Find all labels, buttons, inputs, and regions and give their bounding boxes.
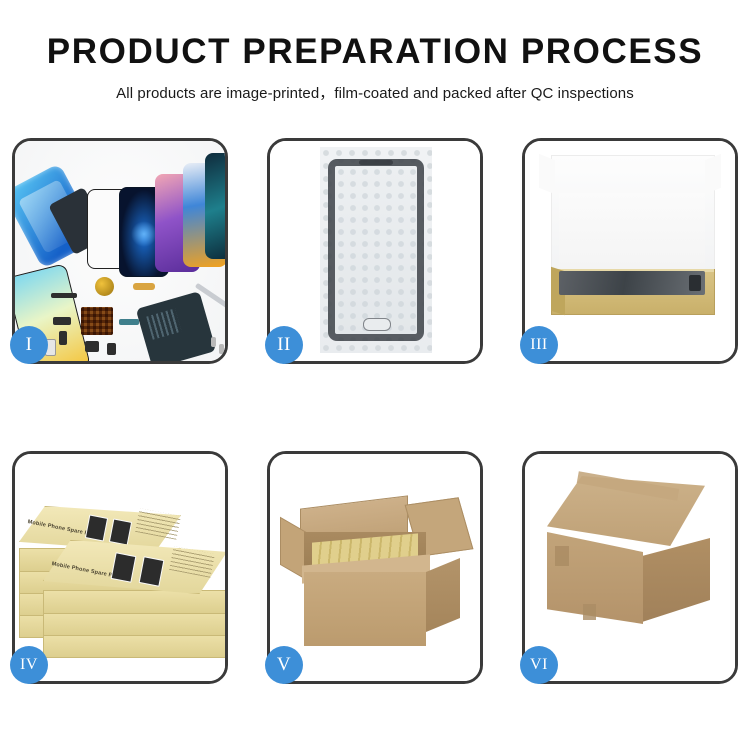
screw-icon [219,344,224,354]
chip-grid-icon [81,307,113,335]
speaker-part-icon [51,293,77,298]
small-part-icon [85,341,99,352]
process-steps-grid: I II III [12,138,738,684]
small-part-icon [59,331,67,345]
step-panel-5: V [267,451,483,684]
tape-strip-icon [555,546,569,566]
step-1-image [15,141,225,361]
small-part-icon [119,319,139,325]
kraft-box-stack-item [43,612,225,636]
carton-front-panel-icon [304,572,426,646]
step-badge-5: V [265,646,303,684]
step-panel-3: III [522,138,738,364]
step-badge-1: I [10,326,48,364]
step-panel-6: VI [522,451,738,684]
step-badge-4: IV [10,646,48,684]
step-badge-3: III [520,326,558,364]
wrapped-screen-icon [328,159,424,341]
lid-flap-left-icon [539,154,555,194]
page-subtitle: All products are image-printed，film-coat… [0,82,750,103]
product-preparation-infographic: PRODUCT PREPARATION PROCESS All products… [0,0,750,750]
lid-flap-right-icon [705,154,721,194]
page-title: PRODUCT PREPARATION PROCESS [0,34,750,69]
step-3-image [525,141,735,361]
step-badge-6: VI [520,646,558,684]
step-panel-1: I [12,138,228,364]
vibration-motor-icon [95,277,114,296]
small-part-icon [107,343,116,355]
foam-padding-icon [559,193,705,269]
step-5-image [270,454,480,681]
screen-in-box-icon [559,271,705,295]
step-2-image [270,141,480,361]
tape-strip-icon [583,604,596,620]
flex-cable-icon [133,283,155,290]
header: PRODUCT PREPARATION PROCESS All products… [0,0,750,103]
step-panel-2: II [267,138,483,364]
kraft-box-stack-item [43,634,225,658]
step-6-image [525,454,735,681]
screw-icon [211,337,216,347]
step-panel-4: Mobile Phone Spare Parts Mobile Phone Sp… [12,451,228,684]
step-badge-2: II [265,326,303,364]
small-part-icon [53,317,71,325]
teal-gradient-phone-icon [205,153,225,259]
step-4-image: Mobile Phone Spare Parts Mobile Phone Sp… [15,454,225,681]
home-button-icon [363,318,391,331]
